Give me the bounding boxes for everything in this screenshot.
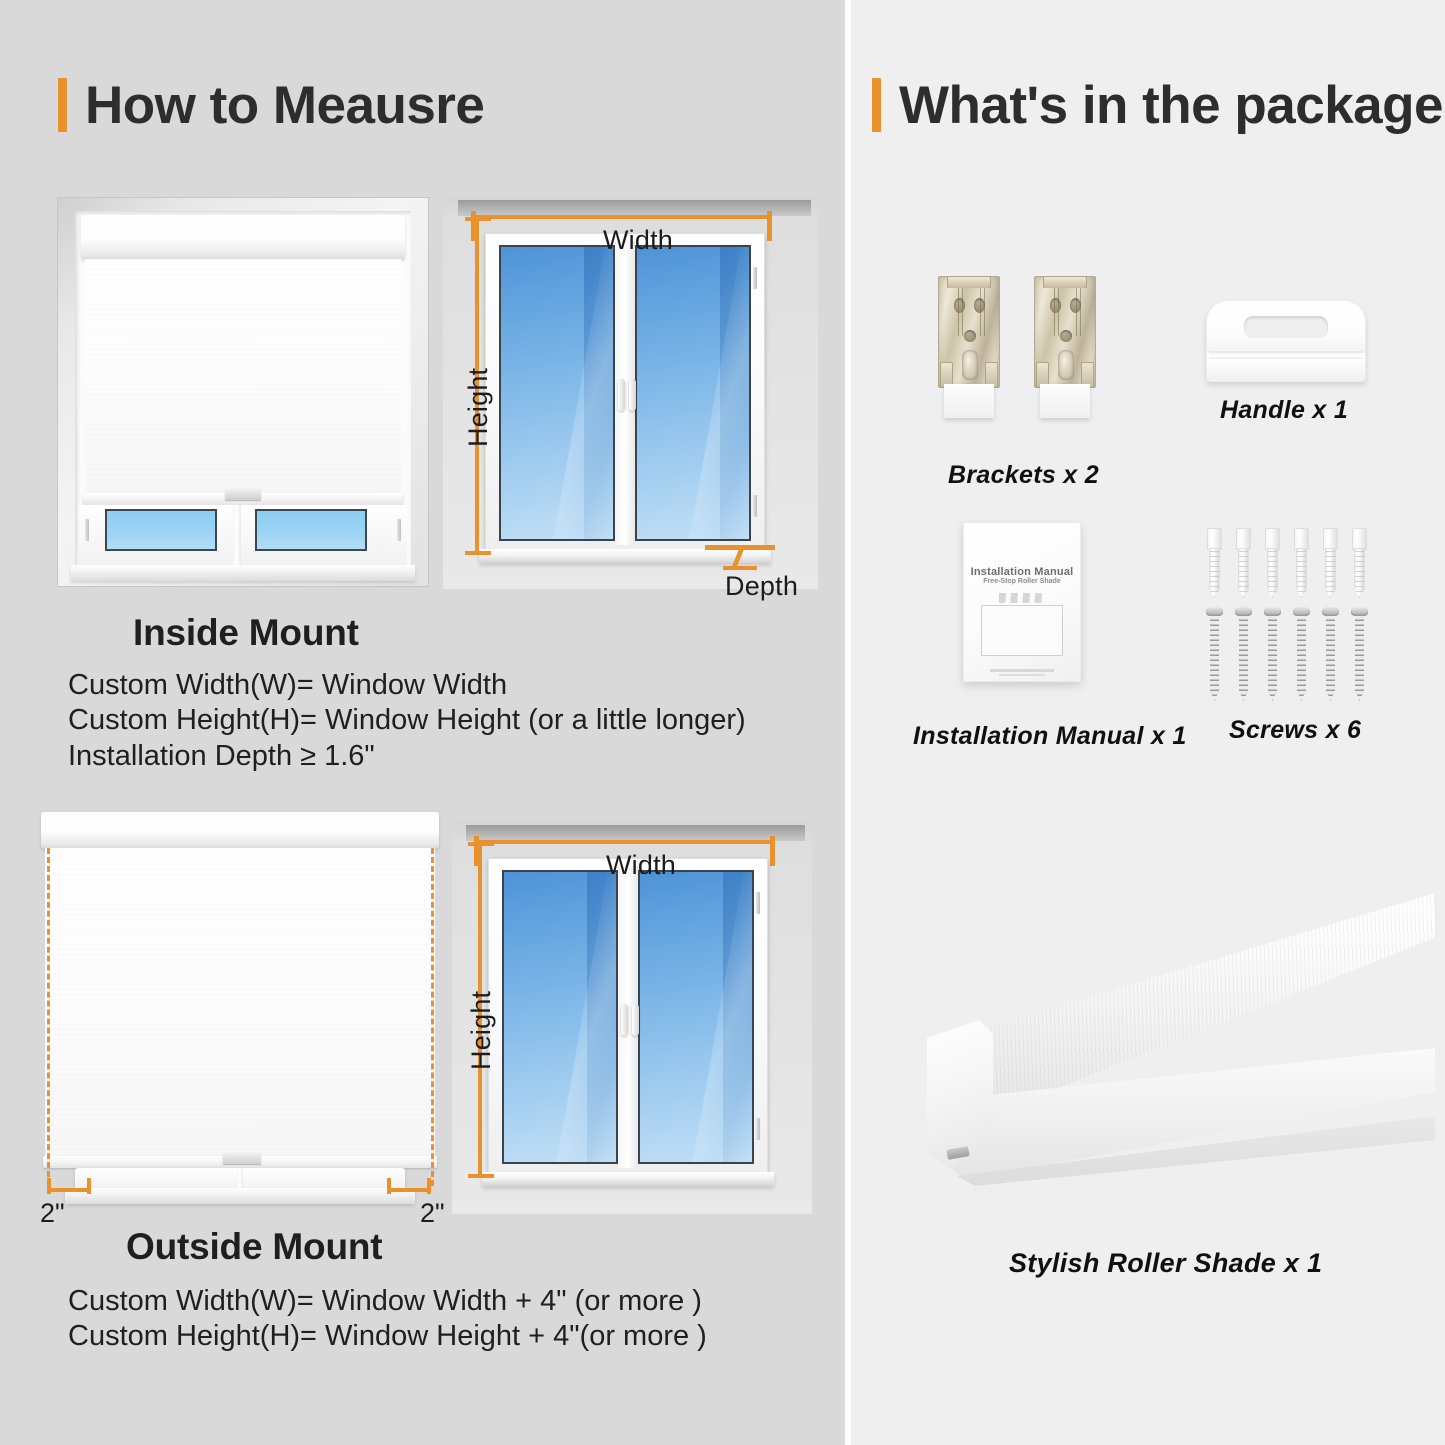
- heading-accent-bar: [872, 78, 881, 132]
- overhang-tick-right-b: [427, 1178, 431, 1194]
- window-pane-right: [635, 245, 751, 541]
- window-lintel: [466, 825, 804, 841]
- handle-icon: [1206, 300, 1366, 382]
- screws-label: Screws x 6: [1229, 716, 1361, 745]
- window-hinge-bottom-icon: [756, 1118, 760, 1140]
- overhang-tick-right-a: [387, 1178, 391, 1194]
- inside-mount-description: Custom Width(W)= Window Width Custom Hei…: [68, 668, 746, 774]
- height-label: Height: [463, 368, 494, 447]
- overhang-label-left: 2": [40, 1198, 65, 1229]
- installation-manual-label: Installation Manual x 1: [913, 722, 1187, 751]
- outside-mount-title: Outside Mount: [126, 1226, 382, 1268]
- outside-mount-shade-illustration: [35, 812, 445, 1212]
- wall-anchor-icon: [1206, 528, 1223, 598]
- window-pane-right: [638, 870, 754, 1164]
- height-cap-bottom: [468, 1174, 494, 1178]
- overhang-guide-left: [47, 848, 50, 1186]
- overhang-guide-right: [431, 848, 434, 1186]
- handle-slot: [1244, 316, 1327, 337]
- handle-groove: [1209, 357, 1363, 359]
- installation-manual-image: Installation Manual Free-Stop Roller Sha…: [963, 522, 1081, 682]
- inside-mount-line-1: Custom Width(W)= Window Width: [68, 668, 746, 703]
- roller-shade-label: Stylish Roller Shade x 1: [1009, 1248, 1322, 1279]
- window-glass-right: [255, 509, 367, 551]
- heading-text: How to Meausre: [85, 79, 484, 132]
- wall-anchor-icon: [1264, 528, 1281, 598]
- screw-icon: [1264, 606, 1281, 701]
- inside-mount-line-3: Installation Depth ≥ 1.6": [68, 739, 746, 774]
- how-to-measure-heading: How to Meausre: [58, 78, 484, 132]
- window-hinge-top-icon: [753, 267, 757, 289]
- window-frame: [485, 233, 765, 555]
- width-measure-line: [473, 215, 771, 219]
- height-cap-top: [465, 217, 491, 221]
- handle-groove: [1209, 351, 1363, 353]
- pane-gloss: [723, 872, 752, 1162]
- window-sill: [65, 1188, 415, 1204]
- overhang-label-right: 2": [420, 1198, 445, 1229]
- handle-label: Handle x 1: [1220, 396, 1348, 425]
- manual-cover-subtitle: Free-Stop Roller Shade: [964, 578, 1080, 585]
- inside-mount-title: Inside Mount: [133, 612, 359, 654]
- manual-cover-graphic: [999, 593, 1045, 603]
- height-label: Height: [466, 991, 497, 1070]
- height-cap-top: [468, 842, 494, 846]
- pane-gloss: [720, 247, 749, 539]
- screw-icon: [1322, 606, 1339, 701]
- wall-anchor-icon: [1322, 528, 1339, 598]
- manual-cover-footer: [999, 674, 1045, 676]
- window-hinge-top-icon: [756, 892, 760, 914]
- window-hinge-bottom-icon: [753, 495, 757, 517]
- bracket-icon: [938, 276, 1000, 416]
- width-label: Width: [606, 850, 676, 881]
- shade-pull-handle: [225, 488, 261, 500]
- overhang-arrow-right: [387, 1188, 431, 1192]
- overhang-arrow-left: [47, 1188, 91, 1192]
- screw-icon: [1206, 606, 1223, 701]
- manual-icon: Installation Manual Free-Stop Roller Sha…: [963, 522, 1081, 682]
- window-sill: [71, 565, 415, 581]
- wall-anchor-icon: [1293, 528, 1310, 598]
- wall-anchor-icon: [1351, 528, 1368, 598]
- shade-valance: [81, 215, 405, 259]
- window-mullion: [233, 505, 241, 567]
- handle-image: [1206, 300, 1366, 382]
- screw-icon: [1293, 606, 1310, 701]
- width-cap-right: [770, 836, 775, 866]
- window-handle-left-icon: [621, 1004, 628, 1036]
- window-pane-left: [502, 870, 618, 1164]
- shade-fabric: [45, 848, 435, 1160]
- window-handle-right-icon: [632, 1004, 639, 1036]
- roller-shade-image: [905, 890, 1435, 1190]
- width-label: Width: [603, 225, 673, 256]
- screws-image: [1206, 528, 1376, 693]
- shade-valance: [41, 812, 439, 848]
- outside-mount-description: Custom Width(W)= Window Width + 4" (or m…: [68, 1284, 707, 1355]
- window-handle-right-icon: [629, 379, 636, 411]
- shade-fabric: [85, 259, 401, 495]
- outside-mount-window-diagram: Width Height: [452, 822, 812, 1214]
- wall-anchor-icon: [1235, 528, 1252, 598]
- window-glass-left: [105, 509, 217, 551]
- manual-cover-title: Installation Manual: [964, 566, 1080, 578]
- overhang-tick-left-b: [87, 1178, 91, 1194]
- screw-icon: [1351, 606, 1368, 701]
- overhang-tick-left-a: [47, 1178, 51, 1194]
- screw-icon: [1235, 606, 1252, 701]
- window-frame: [488, 858, 768, 1178]
- inside-mount-shade-illustration: [57, 197, 429, 587]
- brackets-label: Brackets x 2: [948, 461, 1099, 490]
- window-mullion: [237, 1168, 243, 1190]
- depth-label: Depth: [725, 571, 798, 602]
- sash-hinge-right-icon: [397, 519, 401, 541]
- width-measure-line: [476, 840, 774, 844]
- inside-mount-line-2: Custom Height(H)= Window Height (or a li…: [68, 703, 746, 738]
- window-lintel: [458, 200, 811, 216]
- window-handle-left-icon: [618, 379, 625, 411]
- bracket-icon: [1034, 276, 1096, 416]
- pane-gloss: [584, 247, 613, 539]
- height-cap-bottom: [465, 551, 491, 555]
- heading-text: What's in the package: [899, 79, 1443, 132]
- window-sill: [482, 1172, 774, 1186]
- manual-cover-diagram: [981, 605, 1062, 656]
- pane-gloss: [587, 872, 616, 1162]
- sash-hinge-left-icon: [85, 519, 89, 541]
- width-cap-right: [767, 211, 772, 241]
- heading-accent-bar: [58, 78, 67, 132]
- outside-mount-line-2: Custom Height(H)= Window Height + 4"(or …: [68, 1319, 707, 1354]
- package-heading: What's in the package: [872, 78, 1443, 132]
- outside-mount-line-1: Custom Width(W)= Window Width + 4" (or m…: [68, 1284, 707, 1319]
- window-pane-left: [499, 245, 615, 541]
- shade-pull-handle: [223, 1152, 261, 1164]
- depth-measure-marker: [705, 545, 775, 571]
- manual-cover-footer: [990, 669, 1055, 672]
- inside-mount-window-diagram: Width Height Depth: [443, 197, 818, 589]
- brackets-image: [938, 276, 1114, 426]
